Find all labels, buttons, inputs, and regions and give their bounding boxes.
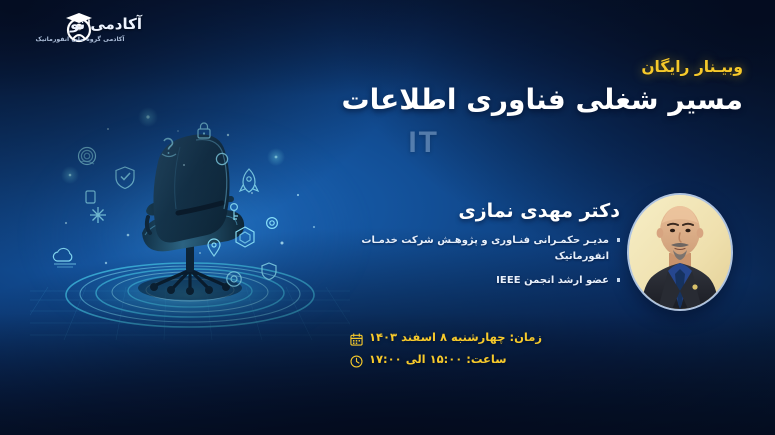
- brand-logo-subtitle: آکادمی گروه ملی انفورماتیک: [18, 36, 142, 43]
- list-item: مدیـر حکمـرانی فنـاوری و پژوهـش شرکت خدم…: [360, 233, 620, 264]
- speaker-block: دکتر مهدی نمازی مدیـر حکمـرانی فنـاوری و…: [360, 200, 620, 298]
- it-watermark: IT: [408, 126, 439, 160]
- speaker-avatar: [629, 195, 731, 309]
- headline-block: وبیـنار رایگان مسیر شغلی فناوری اطلاعات: [323, 58, 743, 117]
- page-title: مسیر شغلی فناوری اطلاعات: [323, 82, 743, 117]
- list-item: عضو ارشد انجمن IEEE: [360, 273, 620, 289]
- free-webinar-kicker: وبیـنار رایگان: [323, 58, 743, 76]
- brand-logo[interactable]: آکادمی نو آکادمی گروه ملی انفورماتیک: [14, 9, 142, 51]
- credential-text: عضو ارشد انجمن IEEE: [496, 275, 609, 286]
- event-meta-block: زمان: چهارشنبه ۸ اسفند ۱۴۰۳ ساعت: ۱۵:۰۰ …: [350, 330, 600, 374]
- webinar-banner: آکادمی نو آکادمی گروه ملی انفورماتیک وبی…: [0, 0, 775, 435]
- event-time-row: ساعت: ۱۵:۰۰ الی ۱۷:۰۰: [350, 352, 600, 366]
- event-date-text: زمان: چهارشنبه ۸ اسفند ۱۴۰۳: [369, 330, 542, 344]
- calendar-icon: [350, 331, 363, 344]
- credential-text: مدیـر حکمـرانی فنـاوری و پژوهـش شرکت خدم…: [361, 235, 609, 262]
- brand-logo-wordmark: آکادمی نو: [24, 13, 142, 35]
- event-time-text: ساعت: ۱۵:۰۰ الی ۱۷:۰۰: [369, 352, 507, 366]
- speaker-credentials-list: مدیـر حکمـرانی فنـاوری و پژوهـش شرکت خدم…: [360, 233, 620, 289]
- bullet-square-icon: [617, 278, 621, 282]
- event-date-row: زمان: چهارشنبه ۸ اسفند ۱۴۰۳: [350, 330, 600, 344]
- speaker-name: دکتر مهدی نمازی: [360, 200, 620, 222]
- clock-icon: [350, 353, 363, 366]
- bullet-square-icon: [617, 238, 621, 242]
